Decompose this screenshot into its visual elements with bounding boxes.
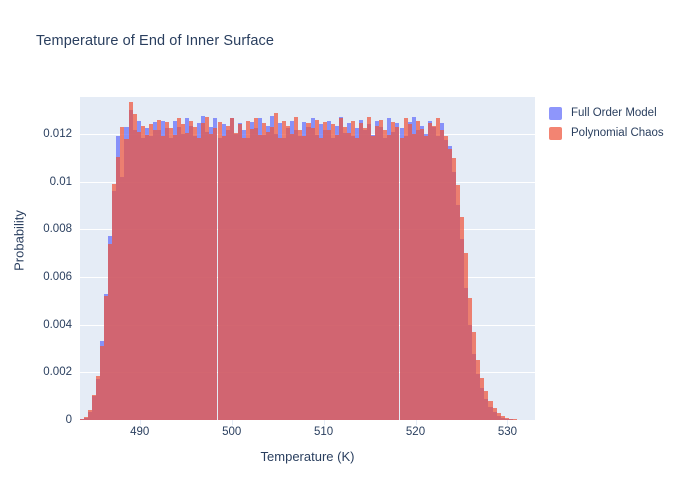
y-tick-label: 0.012 [4, 128, 72, 140]
y-tick-label: 0 [4, 414, 72, 426]
x-tick-mark [324, 420, 325, 425]
x-tick-label: 490 [130, 426, 149, 438]
x-tick-mark [507, 420, 508, 425]
y-axis-title: Probability [12, 186, 27, 296]
legend-label: Polynomial Chaos [571, 127, 664, 139]
chart-container: Temperature of End of Inner Surface 00.0… [0, 0, 700, 500]
x-tick-label: 520 [406, 426, 425, 438]
legend-swatch-icon [549, 107, 562, 120]
x-tick-mark [416, 420, 417, 425]
y-tick-label: 0.004 [4, 319, 72, 331]
legend-label: Full Order Model [571, 107, 657, 119]
legend-item[interactable]: Full Order Model [549, 104, 694, 122]
x-tick-label: 500 [222, 426, 241, 438]
chart-legend[interactable]: Full Order ModelPolynomial Chaos [549, 104, 694, 144]
x-tick-mark [232, 420, 233, 425]
x-tick-label: 530 [498, 426, 517, 438]
y-tick-label: 0.002 [4, 366, 72, 378]
legend-swatch-icon [549, 127, 562, 140]
histogram-bars [80, 97, 535, 420]
legend-item[interactable]: Polynomial Chaos [549, 124, 694, 142]
x-tick-mark [140, 420, 141, 425]
x-axis-title: Temperature (K) [80, 449, 535, 464]
plot-area [80, 97, 535, 420]
x-tick-label: 510 [314, 426, 333, 438]
